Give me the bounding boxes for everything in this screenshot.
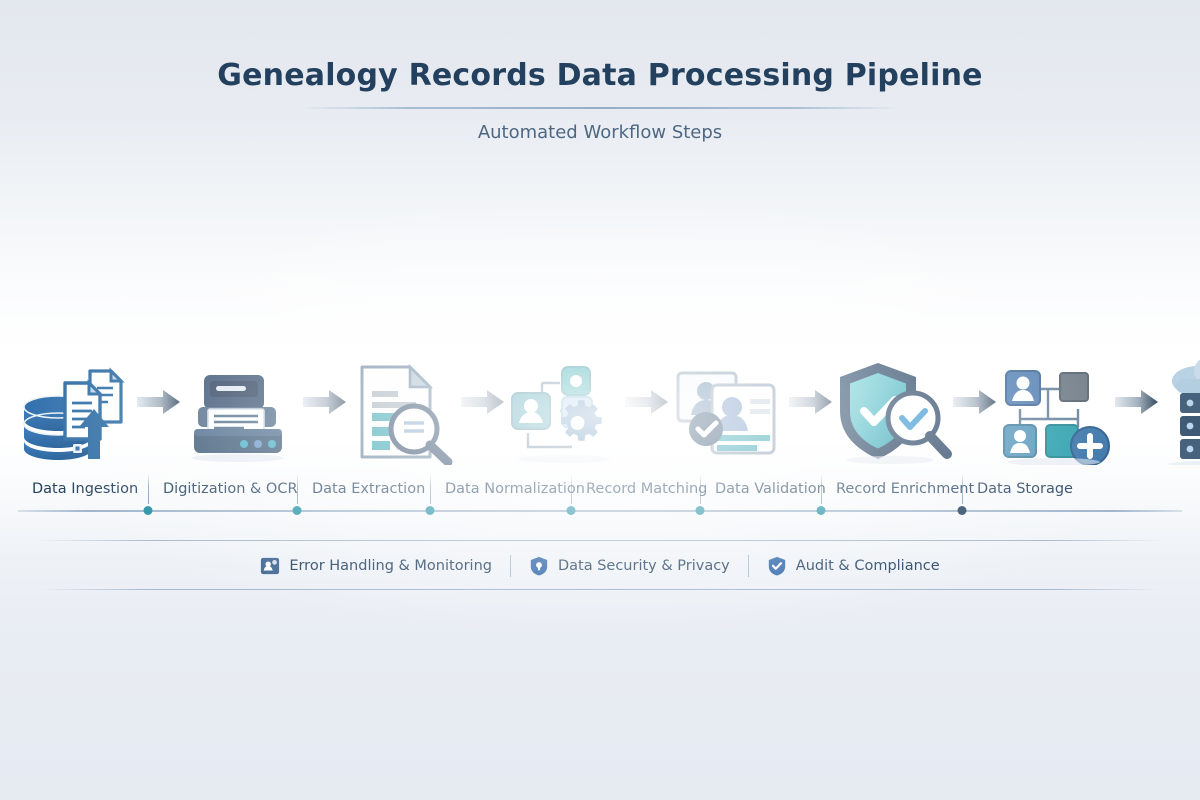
right-arrow-icon: [788, 352, 834, 470]
badge-label: Audit & Compliance: [796, 558, 940, 574]
right-arrow-icon: [460, 352, 506, 470]
pipeline-step-icon-1[interactable]: [18, 352, 136, 470]
pipeline-step-icon-4[interactable]: [506, 352, 624, 470]
pipeline-step-label-4[interactable]: Data Normalization: [431, 481, 571, 497]
document-magnifier-icon: [348, 361, 460, 470]
footer-divider-bottom: [38, 589, 1162, 590]
node-graph-gear-icon: [506, 363, 624, 470]
timeline-dot: [567, 506, 576, 515]
pipeline-step-label-6[interactable]: Data Validation: [701, 481, 821, 497]
title-divider: [300, 107, 900, 109]
pipeline-icon-row: [18, 352, 1182, 470]
database-upload-icon: [18, 361, 136, 470]
pipeline-step-label-3[interactable]: Data Extraction: [298, 481, 430, 497]
footer-badge-2[interactable]: Data Security & Privacy: [511, 556, 748, 576]
pipeline-step-icon-7[interactable]: [998, 352, 1114, 470]
right-arrow-icon: [952, 352, 998, 470]
right-arrow-icon: [624, 352, 670, 470]
footer-divider-top: [38, 540, 1162, 541]
pipeline-step-icon-2[interactable]: [182, 352, 302, 470]
timeline-track: [18, 510, 1182, 512]
pipeline-step-label-5[interactable]: Record Matching: [572, 481, 700, 497]
pipeline-timeline: [18, 509, 1182, 512]
step-label-text: Data Ingestion: [18, 481, 152, 497]
timeline-dot: [958, 506, 967, 515]
cloud-server-dashboard-icon: [1160, 349, 1200, 470]
step-label-text: Record Matching: [572, 481, 721, 497]
pipeline-step-label-7[interactable]: Record Enrichment: [822, 481, 962, 497]
timeline-dot: [817, 506, 826, 515]
pipeline-label-row: Data IngestionDigitization & OCRData Ext…: [18, 474, 1182, 504]
pipeline-step-label-1[interactable]: Data Ingestion: [18, 481, 148, 497]
footer-badge-1[interactable]: Error Handling & Monitoring: [242, 556, 510, 576]
step-label-text: Data Extraction: [298, 481, 439, 497]
badge-label: Error Handling & Monitoring: [289, 558, 492, 574]
right-arrow-icon: [302, 352, 348, 470]
footer-badge-3[interactable]: Audit & Compliance: [749, 556, 958, 576]
header: Genealogy Records Data Processing Pipeli…: [0, 58, 1200, 143]
right-arrow-icon: [1114, 352, 1160, 470]
timeline-dot: [144, 506, 153, 515]
page-subtitle: Automated Workflow Steps: [0, 122, 1200, 143]
diagram-canvas: Genealogy Records Data Processing Pipeli…: [0, 0, 1200, 800]
page-title: Genealogy Records Data Processing Pipeli…: [0, 58, 1200, 93]
pipeline-step-icon-8[interactable]: [1160, 352, 1200, 470]
shield-check-magnifier-icon: [834, 361, 952, 470]
user-alert-square-icon: [260, 556, 280, 576]
pipeline-step-icon-5[interactable]: [670, 352, 788, 470]
timeline-dot: [426, 506, 435, 515]
pipeline-step-icon-6[interactable]: [834, 352, 952, 470]
timeline-dot: [696, 506, 705, 515]
pipeline-step-label-8[interactable]: Data Storage: [963, 481, 1182, 497]
flatbed-scanner-icon: [182, 369, 302, 470]
pipeline-step-icon-3[interactable]: [348, 352, 460, 470]
badge-label: Data Security & Privacy: [558, 558, 730, 574]
footer-badge-row: Error Handling & Monitoring Data Securit…: [0, 548, 1200, 584]
person-cards-check-icon: [670, 367, 788, 470]
step-label-text: Data Validation: [701, 481, 840, 497]
shield-check-icon: [767, 556, 787, 576]
step-label-text: Data Storage: [963, 481, 1087, 497]
right-arrow-icon: [136, 352, 182, 470]
family-tree-plus-icon: [998, 367, 1114, 470]
timeline-dot: [293, 506, 302, 515]
pipeline-step-label-2[interactable]: Digitization & OCR: [149, 481, 297, 497]
step-label-text: Digitization & OCR: [149, 481, 312, 497]
shield-lock-icon: [529, 556, 549, 576]
